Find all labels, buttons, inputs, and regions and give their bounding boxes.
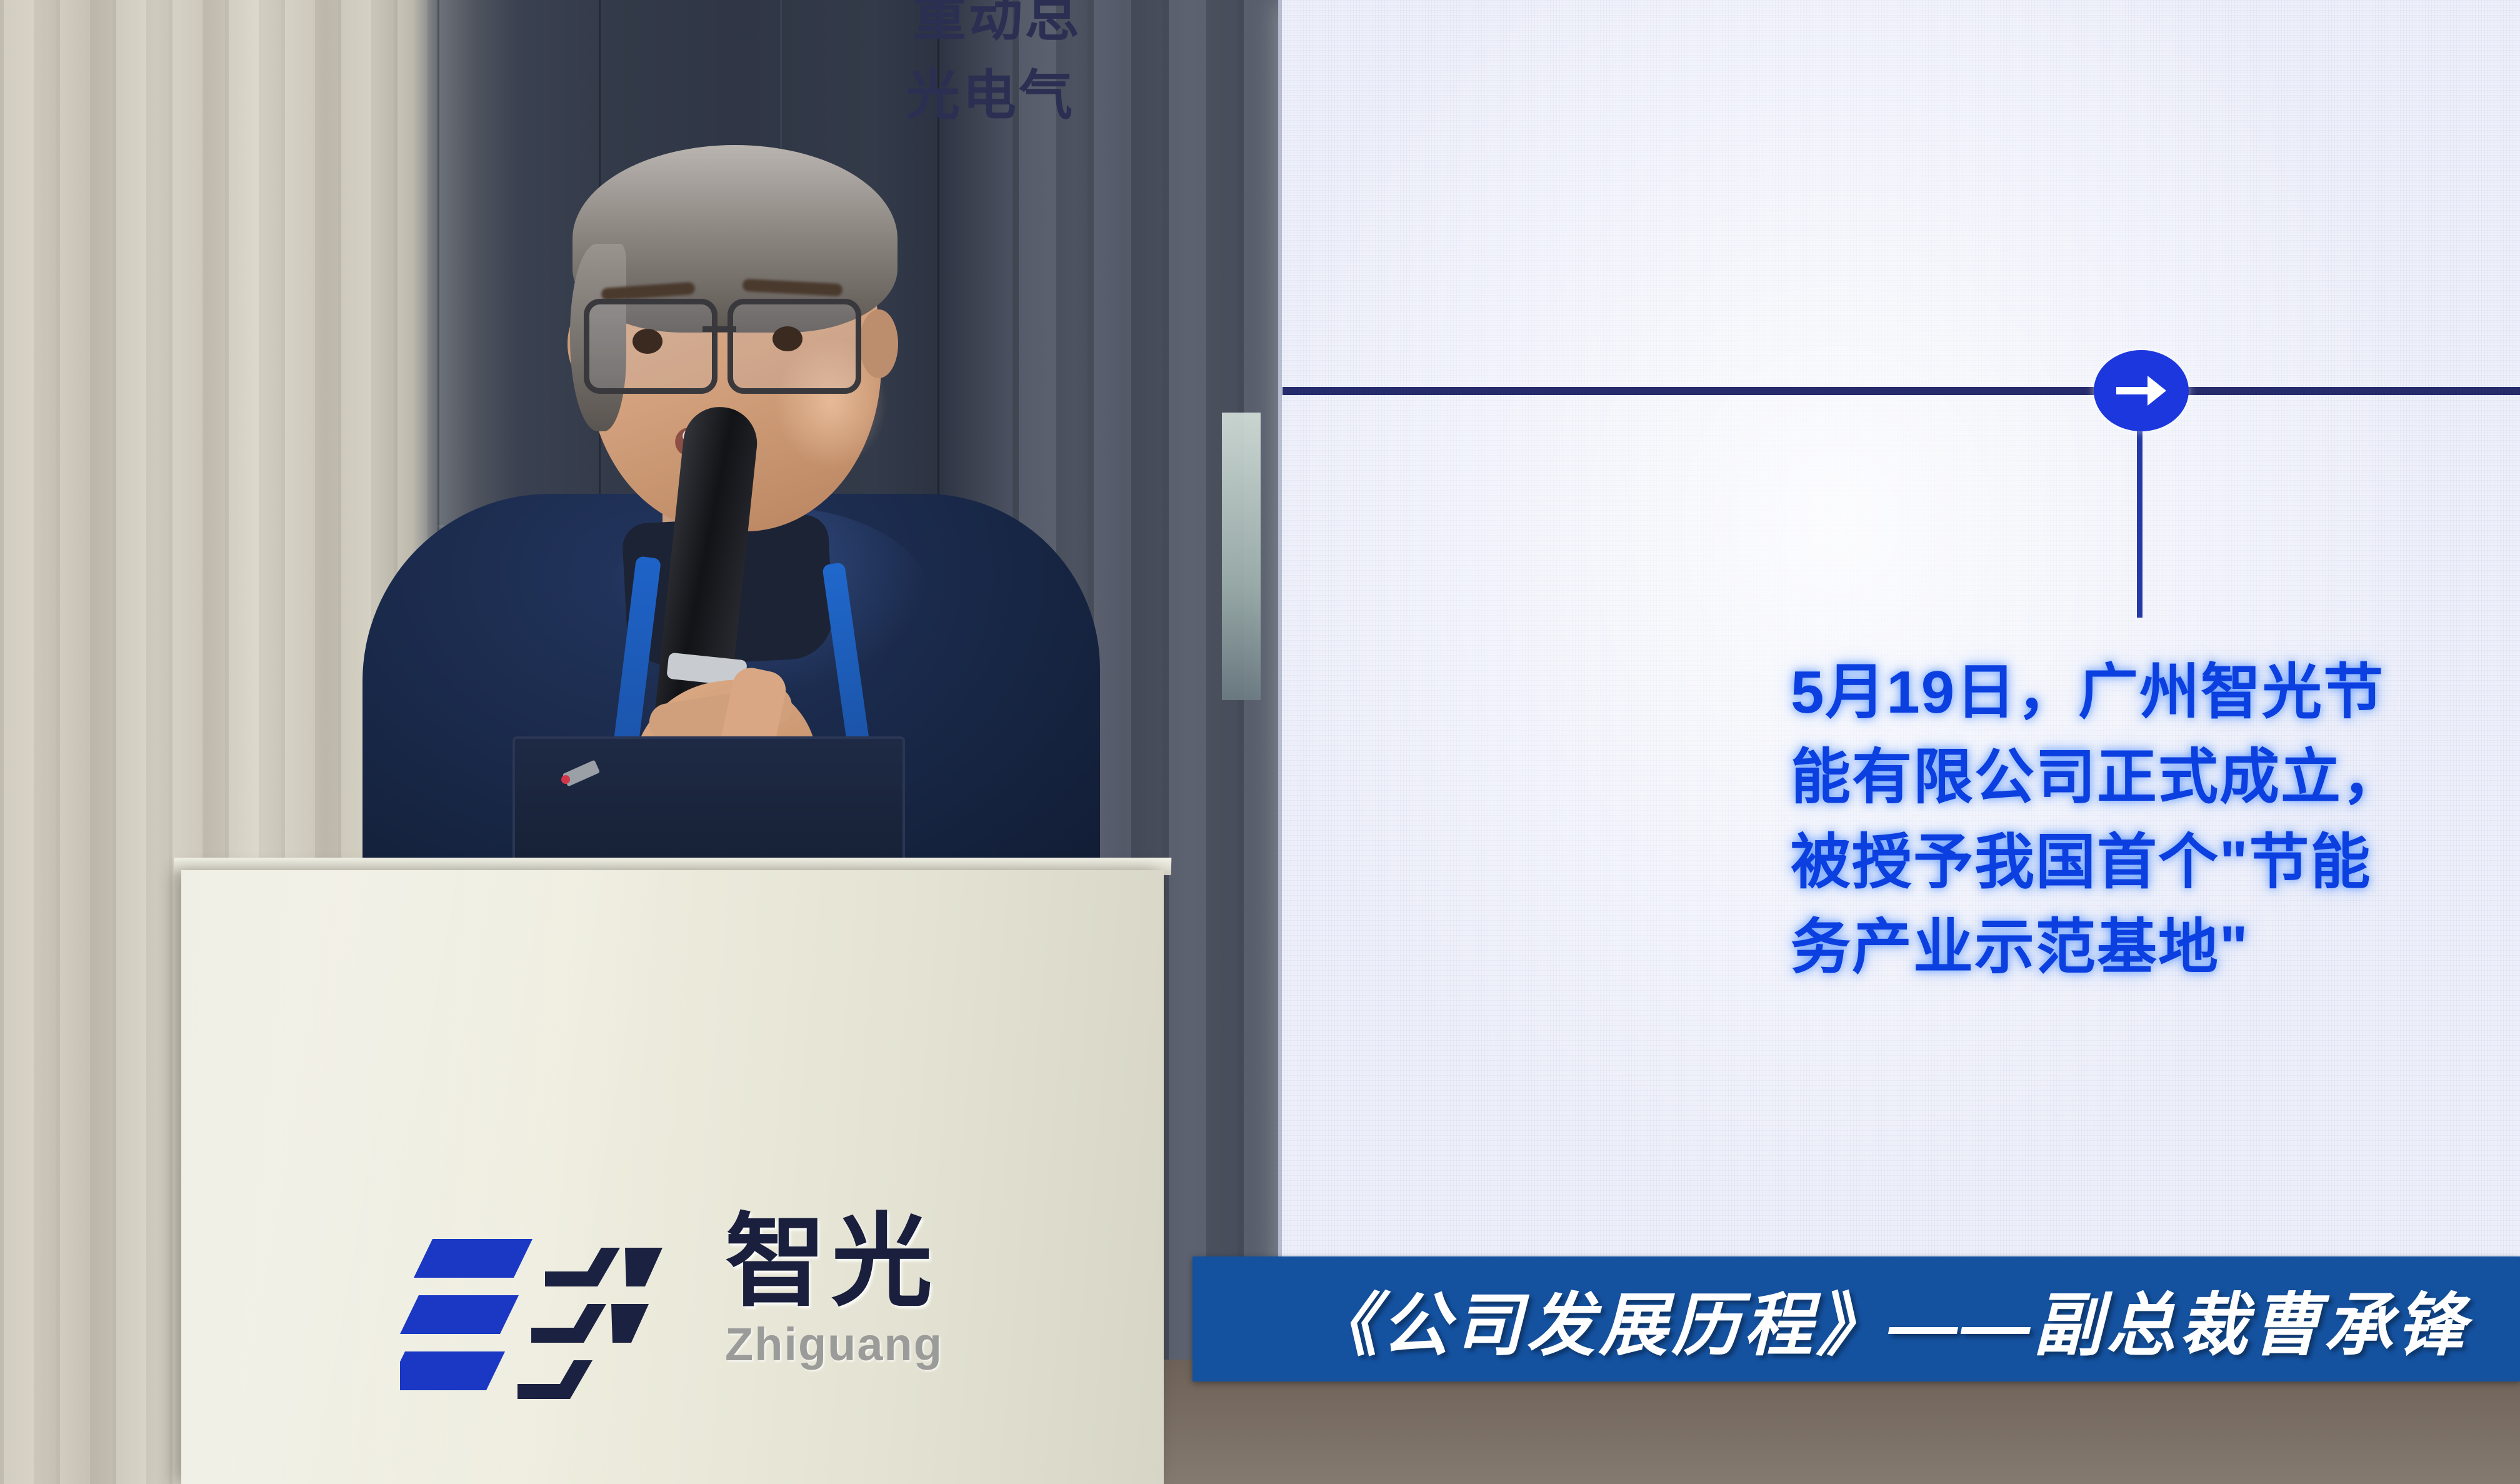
screen-left-edge (1278, 0, 1282, 1303)
wall-light-strip (1222, 413, 1261, 700)
arrow-right-icon (2111, 368, 2171, 413)
slide-body-line: 能有限公司正式成立， (1791, 735, 2520, 820)
caption-banner: 《公司发展历程》——副总裁曹承锋 (1192, 1256, 2520, 1381)
timeline-axis (1282, 387, 2520, 395)
logo-wordmark: 智光 Zhiguang (725, 1211, 943, 1371)
slide-heading-line-2: 光电气 (906, 69, 1075, 123)
thinkpad-logo-dot-icon (561, 775, 570, 784)
presentation-photo-scene: 重动总 光电气 5月19日，广州智光节 能有限公司正式成立， 被授予我国首个"节… (0, 0, 2520, 1484)
eyeglasses (580, 299, 892, 393)
pupil-left (632, 329, 662, 354)
laptop-lid (512, 736, 905, 876)
slide-body-line: 务产业示范基地" (1791, 905, 2520, 990)
timeline-node (2094, 350, 2189, 431)
pupil-right (772, 326, 802, 351)
timeline-connector (2137, 430, 2142, 618)
logo-chinese-name: 智光 (725, 1211, 943, 1313)
zhiguang-logo-mark-icon (400, 1233, 700, 1401)
slide-heading-line-1: 重动总 (912, 0, 1081, 44)
logo-pinyin-name: Zhiguang (725, 1318, 943, 1371)
slide-body-line: 5月19日，广州智光节 (1791, 650, 2520, 735)
caption-text: 《公司发展历程》——副总裁曹承锋 (1309, 1269, 2469, 1369)
company-logo: 智光 Zhiguang (400, 1225, 1100, 1413)
slide-body-line: 被授予我国首个"节能 (1791, 820, 2520, 905)
glasses-bridge (702, 326, 736, 332)
slide-body-text: 5月19日，广州智光节 能有限公司正式成立， 被授予我国首个"节能 务产业示范基… (1791, 650, 2520, 990)
